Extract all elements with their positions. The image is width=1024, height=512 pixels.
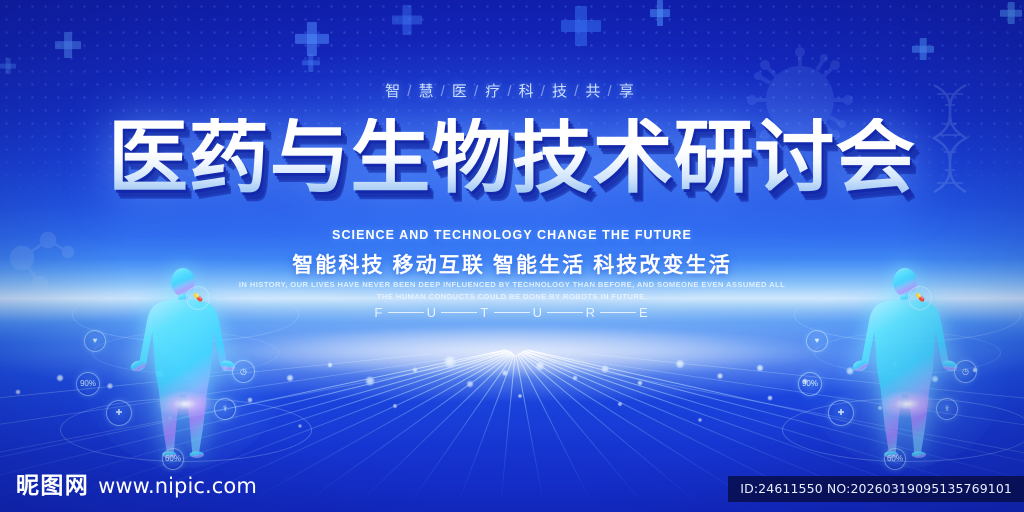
kicker-char: 疗 [485,83,505,100]
future-letter: T [477,305,494,320]
kicker-separator: / [474,83,483,100]
site-watermark: 昵图网 www.nipic.com [16,466,257,500]
future-letter: U [424,305,441,320]
kicker-line: 智/慧/医/疗/科/技/共/享 [0,80,1024,101]
future-letter: U [530,305,547,320]
badge-capsule-icon: ◷ [954,360,977,383]
medical-cross-icon [55,32,81,58]
future-dash [388,312,424,313]
kicker-separator: / [507,83,516,100]
subtitle-line: 智能科技 移动互联 智能生活 科技改变生活 [0,249,1024,279]
human-figure-left-foot-glow [155,390,215,418]
kicker-char: 技 [552,83,572,100]
kicker-char: 智 [385,83,405,100]
paragraph-line-1: IN HISTORY, OUR LIVES HAVE NEVER BEEN DE… [0,279,1024,291]
kicker-separator: / [441,83,450,100]
poster-canvas: ♥ 90% ✚ 💊 ◷ ⚕ 60% ♥ [0,0,1024,512]
kicker-char: 共 [585,83,605,100]
site-name-cn: 昵图网 [16,466,89,500]
future-letter: R [583,305,600,320]
human-figure-right-foot-glow [877,390,937,418]
badge-percent-icon: 90% [76,372,100,396]
medical-cross-icon [1000,2,1022,24]
medical-cross-icon [912,38,934,60]
medical-cross-icon [561,6,601,46]
kicker-separator: / [608,83,617,100]
english-tagline: SCIENCE AND TECHNOLOGY CHANGE THE FUTURE [0,228,1024,242]
main-title: 医药与生物技术研讨会 [0,118,1024,198]
badge-heart-icon: ♥ [84,330,106,352]
site-url: www.nipic.com [98,474,257,498]
badge-percent-icon: 60% [884,448,906,470]
medical-cross-icon [302,54,320,72]
kicker-separator: / [407,83,416,100]
paragraph-line-2: THE HUMAN CONDUCTS COULD BE DONE BY ROBO… [0,291,1024,303]
badge-dna-icon: ⚕ [214,398,236,420]
badge-cross-icon: ✚ [106,400,132,426]
medical-cross-icon [295,22,329,56]
future-wordmark: F U T U R E [0,305,1024,320]
kicker-char: 慧 [418,83,438,100]
future-dash [600,312,636,313]
badge-dna-icon: ⚕ [936,398,958,420]
kicker-char: 医 [452,83,472,100]
kicker-separator: / [541,83,550,100]
kicker-char: 科 [519,83,539,100]
badge-heart-icon: ♥ [806,330,828,352]
kicker-char: 享 [619,83,639,100]
future-letter: E [636,305,653,320]
future-dash [547,312,583,313]
medical-cross-icon [0,58,16,74]
kicker-separator: / [574,83,583,100]
badge-capsule-icon: ◷ [232,360,255,383]
badge-percent-icon: 90% [798,372,822,396]
image-id-chip: ID:24611550 NO:20260319095135769101 [728,476,1024,502]
medical-cross-icon [650,0,670,26]
badge-cross-icon: ✚ [828,400,854,426]
medical-cross-icon [392,5,422,35]
future-dash [494,312,530,313]
future-dash [441,312,477,313]
description-paragraph: IN HISTORY, OUR LIVES HAVE NEVER BEEN DE… [0,279,1024,304]
future-letter: F [371,305,388,320]
